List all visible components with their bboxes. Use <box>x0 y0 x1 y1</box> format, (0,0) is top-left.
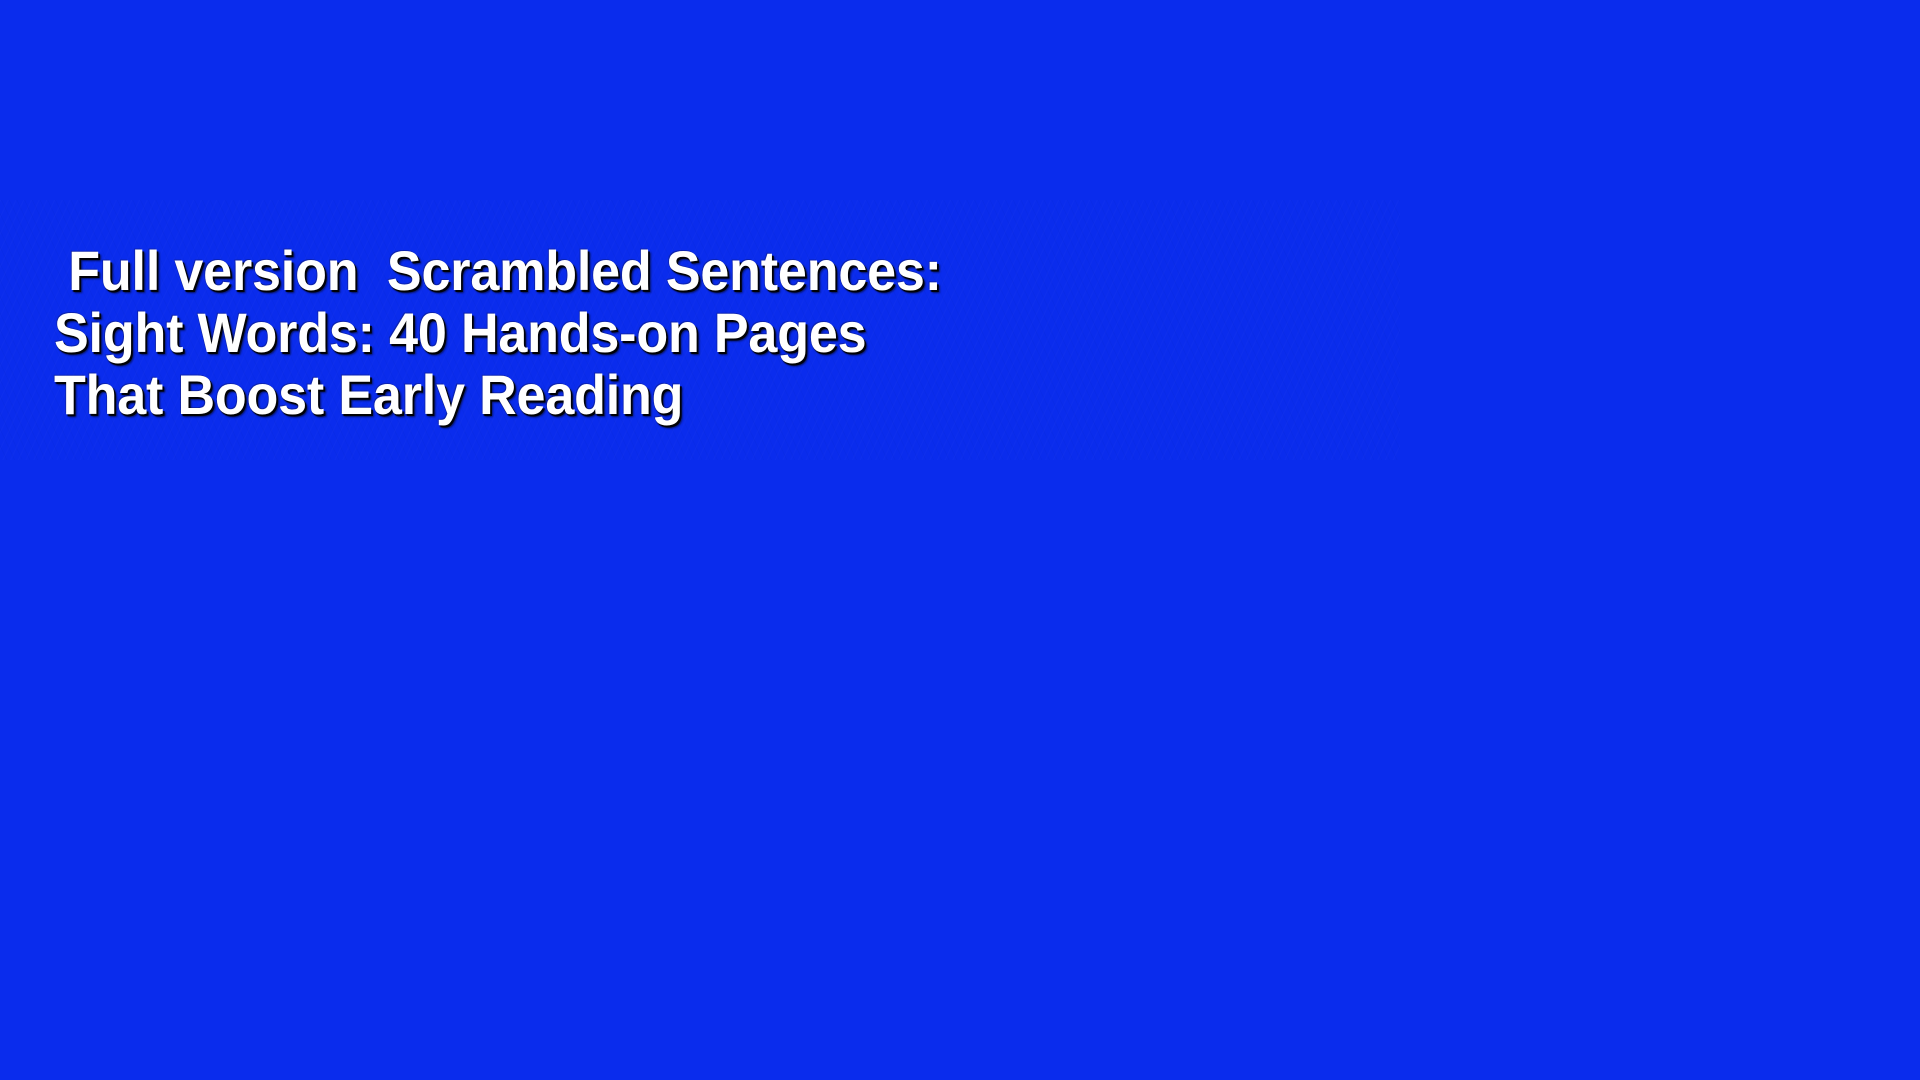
promo-title-line-2: Sight Words: 40 Hands-on Pages <box>54 302 1282 364</box>
promo-title-block: Full version Scrambled Sentences: Sight … <box>54 240 1374 426</box>
promo-title-line-3: That Boost Early Reading <box>54 364 1282 426</box>
promo-title-line-1: Full version Scrambled Sentences: <box>54 240 1282 302</box>
promo-card: Full version Scrambled Sentences: Sight … <box>0 0 1920 1080</box>
